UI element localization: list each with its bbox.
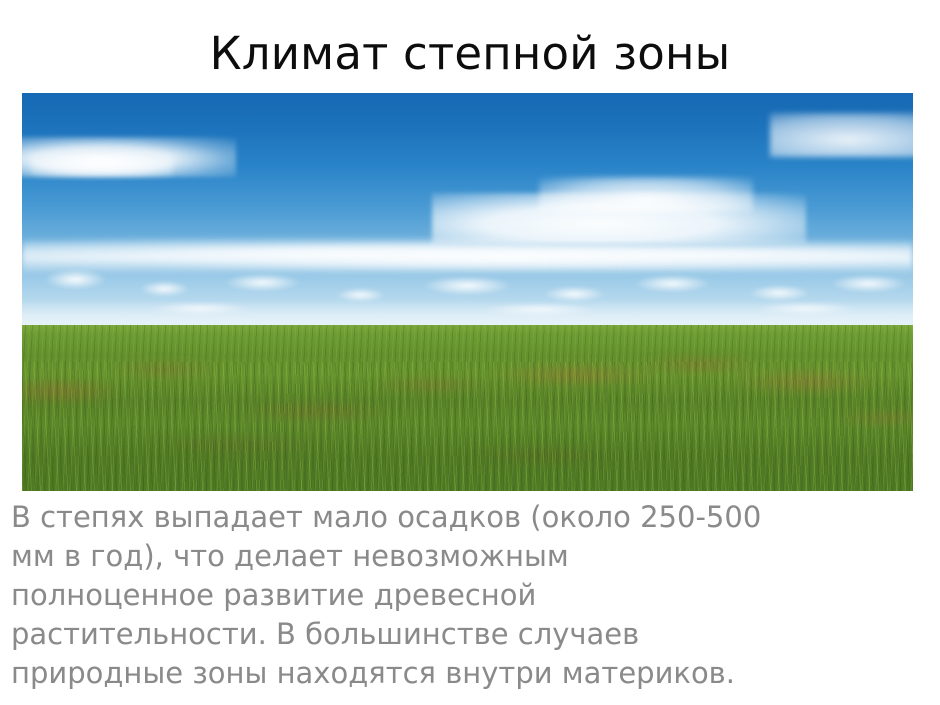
slide-title: Климат степной зоны [0,28,940,80]
cloud-upper-left-wisp [31,153,174,177]
cloud-haze-band [22,236,913,272]
body-line: В степях выпадает мало осадков (около 25… [11,498,929,537]
cloud-upper-right [770,113,913,157]
steppe-landscape-photo [22,93,913,491]
body-line: мм в год), что делает невозможным [11,537,929,576]
body-line: полноценное развитие древесной [11,576,929,615]
presentation-slide: Климат степной зоны В степях выпадает ма… [0,0,940,705]
grass-blade-texture-foreground [22,362,913,491]
body-line: природные зоны находятся внутри материко… [11,654,929,693]
horizon-haze [22,300,913,328]
grassland-region [22,325,913,491]
body-line: растительности. В большинстве случаев [11,615,929,654]
slide-body-text: В степях выпадает мало осадков (около 25… [11,498,929,693]
